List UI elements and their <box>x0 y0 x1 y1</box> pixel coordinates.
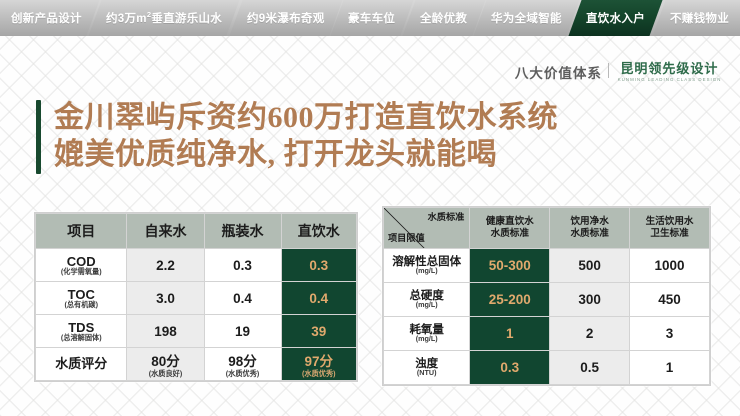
cell-toc-tap: 3.0 <box>127 282 204 315</box>
header-line-1: 饮用净水 <box>550 216 629 228</box>
corner-label-top: 水质标准 <box>428 212 465 224</box>
cell-hardness-healthy: 25-200 <box>470 283 550 317</box>
cell-value-sub: (水质优秀) <box>282 369 356 379</box>
row-label-sub: (化学需氧量) <box>36 268 126 276</box>
table-row: 耗氧量 (mg/L) 1 2 3 <box>384 317 710 351</box>
left-header-bottled-water: 瓶装水 <box>204 214 281 249</box>
table-row: 浊度 (NTU) 0.3 0.5 1 <box>384 351 710 385</box>
row-label-hardness: 总硬度 (mg/L) <box>384 283 470 317</box>
row-label-unit: (mg/L) <box>384 335 469 343</box>
corner-label-bottom: 项目限值 <box>388 233 425 245</box>
cell-tds-direct: 39 <box>281 315 356 348</box>
cell-turbidity-domestic: 1 <box>630 351 710 385</box>
table-row: 溶解性总固体 (mg/L) 50-300 500 1000 <box>384 249 710 283</box>
row-label-score: 水质评分 <box>36 348 127 381</box>
cell-value: 98分 <box>228 354 257 369</box>
slide-root: 创新产品设计 约3万m2垂直游乐山水 约9米瀑布奇观 豪车车位 全龄优教 华为全… <box>0 0 740 416</box>
cell-tds-bottled: 19 <box>204 315 281 348</box>
headline-text-group: 金川翠屿斥资约600万打造直饮水系统 媲美优质纯净水, 打开龙头就能喝 <box>54 100 558 174</box>
table-row: 水质评分 80分 (水质良好) 98分 (水质优秀) 97分 (水质优秀) <box>36 348 357 381</box>
cell-score-bottled: 98分 (水质优秀) <box>204 348 281 381</box>
nav-tab-label-6: 直饮水入户 <box>587 10 646 26</box>
cell-hardness-purified: 300 <box>550 283 630 317</box>
water-comparison-table: 项目 自来水 瓶装水 直饮水 COD (化学需氧量) 2.2 0.3 0.3 <box>34 212 358 382</box>
brand-sub-group: 昆明领先级设计 KUNMING LEADING CLASS DESIGN <box>615 62 724 83</box>
table-row: COD (化学需氧量) 2.2 0.3 0.3 <box>36 249 357 282</box>
row-label-turbidity: 浊度 (NTU) <box>384 351 470 385</box>
left-header-item: 项目 <box>36 214 127 249</box>
row-label-oxygen: 耗氧量 (mg/L) <box>384 317 470 351</box>
row-label-tds-total: 溶解性总固体 (mg/L) <box>384 249 470 283</box>
header-line-2: 水质标准 <box>550 228 629 240</box>
cell-oxygen-healthy: 1 <box>470 317 550 351</box>
cell-cod-tap: 2.2 <box>127 249 204 282</box>
top-navigation: 创新产品设计 约3万m2垂直游乐山水 约9米瀑布奇观 豪车车位 全龄优教 华为全… <box>0 0 740 36</box>
headline-accent-bar <box>36 100 41 174</box>
cell-oxygen-domestic: 3 <box>630 317 710 351</box>
table-row: TOC (总有机碳) 3.0 0.4 0.4 <box>36 282 357 315</box>
nav-tab-6-active[interactable]: 直饮水入户 <box>569 0 663 36</box>
brand-sub-text: 昆明领先级设计 <box>620 62 718 75</box>
table-row: 总硬度 (mg/L) 25-200 300 450 <box>384 283 710 317</box>
cell-score-tap: 80分 (水质良好) <box>127 348 204 381</box>
table-header-row: 项目 自来水 瓶装水 直饮水 <box>36 214 357 249</box>
cell-tds-domestic: 1000 <box>630 249 710 283</box>
cell-score-direct: 97分 (水质优秀) <box>281 348 356 381</box>
right-header-healthy-direct: 健康直饮水 水质标准 <box>470 208 550 249</box>
nav-tab-4[interactable]: 全龄优教 <box>402 0 485 36</box>
cell-cod-bottled: 0.3 <box>204 249 281 282</box>
cell-tds-tap: 198 <box>127 315 204 348</box>
row-label-unit: (mg/L) <box>384 267 469 275</box>
headline-line-1: 金川翠屿斥资约600万打造直饮水系统 <box>54 100 558 137</box>
table-header-row: 水质标准 项目限值 健康直饮水 水质标准 饮用净水 水质标准 生活饮用水 卫生标… <box>384 208 710 249</box>
nav-tab-1[interactable]: 约3万m2垂直游乐山水 <box>89 0 241 36</box>
cell-cod-direct: 0.3 <box>281 249 356 282</box>
header-line-1: 生活饮用水 <box>630 216 709 228</box>
row-label-sub: (总有机碳) <box>36 301 126 309</box>
left-header-tap-water: 自来水 <box>127 214 204 249</box>
row-label-tds: TDS (总溶解固体) <box>36 315 127 348</box>
nav-tab-label-2: 约9米瀑布奇观 <box>247 10 325 26</box>
cell-value-sub: (水质良好) <box>127 369 203 379</box>
left-header-direct-drink-water: 直饮水 <box>281 214 356 249</box>
nav-tab-label-4: 全龄优教 <box>420 10 467 26</box>
water-standards-table: 水质标准 项目限值 健康直饮水 水质标准 饮用净水 水质标准 生活饮用水 卫生标… <box>382 206 711 386</box>
cell-value: 80分 <box>151 354 180 369</box>
nav-tab-label-0: 创新产品设计 <box>11 10 82 26</box>
headline-line-2: 媲美优质纯净水, 打开龙头就能喝 <box>54 137 558 174</box>
nav-tab-label-3: 豪车车位 <box>348 10 395 26</box>
header-line-1: 健康直饮水 <box>470 216 549 228</box>
brand-divider <box>608 63 609 78</box>
nav-tab-0[interactable]: 创新产品设计 <box>0 0 100 36</box>
row-label-main: 水质评分 <box>55 356 107 371</box>
cell-value-sub: (水质优秀) <box>205 369 281 379</box>
row-label-unit: (NTU) <box>384 369 469 377</box>
cell-tds-purified: 500 <box>550 249 630 283</box>
brand-main-text: 八大价值体系 <box>515 62 602 82</box>
brand-sub-english: KUNMING LEADING CLASS DESIGN <box>618 78 722 82</box>
cell-value: 97分 <box>305 354 334 369</box>
header-line-2: 水质标准 <box>470 228 549 240</box>
nav-tab-2[interactable]: 约9米瀑布奇观 <box>229 0 342 36</box>
nav-tab-3[interactable]: 豪车车位 <box>331 0 414 36</box>
headline-block: 金川翠屿斥资约600万打造直饮水系统 媲美优质纯净水, 打开龙头就能喝 <box>36 100 558 174</box>
nav-tab-5[interactable]: 华为全域智能 <box>474 0 580 36</box>
cell-tds-healthy: 50-300 <box>470 249 550 283</box>
nav-tab-7[interactable]: 不赚钱物业 <box>652 0 740 36</box>
corner-header-cell: 水质标准 项目限值 <box>384 208 470 249</box>
row-label-toc: TOC (总有机碳) <box>36 282 127 315</box>
cell-turbidity-healthy: 0.3 <box>470 351 550 385</box>
table-row: TDS (总溶解固体) 198 19 39 <box>36 315 357 348</box>
cell-turbidity-purified: 0.5 <box>550 351 630 385</box>
nav-tab-label-5: 华为全域智能 <box>491 10 562 26</box>
right-header-purified: 饮用净水 水质标准 <box>550 208 630 249</box>
cell-toc-bottled: 0.4 <box>204 282 281 315</box>
right-header-domestic: 生活饮用水 卫生标准 <box>630 208 710 249</box>
cell-hardness-domestic: 450 <box>630 283 710 317</box>
row-label-sub: (总溶解固体) <box>36 334 126 342</box>
row-label-unit: (mg/L) <box>384 301 469 309</box>
brand-lockup: 八大价值体系 昆明领先级设计 KUNMING LEADING CLASS DES… <box>515 62 724 83</box>
header-line-2: 卫生标准 <box>630 228 709 240</box>
nav-tab-label-7: 不赚钱物业 <box>670 10 729 26</box>
row-label-cod: COD (化学需氧量) <box>36 249 127 282</box>
nav-tab-label-1: 约3万m2垂直游乐山水 <box>106 10 222 26</box>
cell-oxygen-purified: 2 <box>550 317 630 351</box>
cell-toc-direct: 0.4 <box>281 282 356 315</box>
